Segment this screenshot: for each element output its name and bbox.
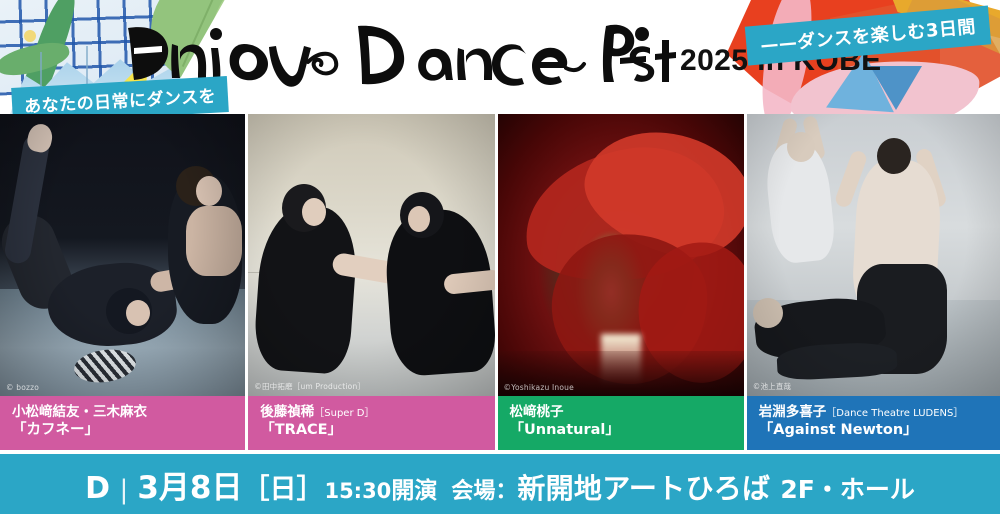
caption-artist-4: 岩淵多喜子［Dance Theatre LUDENS］ [759, 403, 1000, 421]
caption-artist-name-4: 岩淵多喜子 [759, 404, 827, 420]
performance-photo-2[interactable]: ©田中拓磨［um Production］ [248, 114, 494, 396]
schedule-date: 3月8日 [137, 462, 242, 507]
photo-1-scene [0, 114, 245, 396]
caption-bar-3[interactable]: 松﨑桃子 「Unnatural」 [498, 396, 744, 450]
photo-credit-4: ©池上直哉 [753, 381, 792, 392]
caption-artist-1: 小松﨑結友・三木麻衣 [12, 403, 245, 421]
photo-credit-2: ©田中拓磨［um Production］ [254, 381, 365, 392]
poster-header: 2025 in KOBE あなたの日常にダンスを ——ダンスを楽しむ3日間 [0, 0, 1000, 114]
venue-label: 会場： [451, 473, 517, 505]
schedule-line: D | 3月8日 ［日］ 15:30 開演 会場： 新開地アートひろば 2F・ホ… [85, 462, 915, 507]
photo-4-scene [747, 114, 1000, 396]
photo-2-scene [248, 114, 494, 396]
photo-1-vignette [0, 114, 245, 396]
caption-artist-group-4: ［Dance Theatre LUDENS］ [826, 408, 963, 419]
caption-bar-2[interactable]: 後藤禎稀［Super D］ 「TRACE」 [248, 396, 494, 450]
caption-artist-group-2: ［Super D］ [314, 408, 374, 419]
schedule-day-of-week: ［日］ [242, 467, 323, 506]
caption-artist-name-1: 小松﨑結友・三木麻衣 [12, 404, 147, 420]
caption-bar-1[interactable]: 小松﨑結友・三木麻衣 「カフネー」 [0, 396, 245, 450]
caption-artist-name-2: 後藤禎稀 [260, 404, 314, 420]
caption-bar-4[interactable]: 岩淵多喜子［Dance Theatre LUDENS］ 「Against New… [747, 396, 1000, 450]
venue-floor: 2F・ホール [780, 470, 914, 506]
photo-4-vignette [747, 114, 1000, 396]
schedule-start-label: 開演 [391, 471, 437, 505]
caption-artist-3: 松﨑桃子 [510, 403, 744, 421]
photo-3-scene [498, 114, 744, 396]
caption-title-3: 「Unnatural」 [510, 421, 744, 440]
photo-credit-3: ©Yoshikazu Inoue [504, 383, 574, 392]
performance-photo-strip: © bozzo ©田中拓磨［um Production］ [0, 114, 1000, 396]
program-letter: D [85, 471, 110, 506]
yellow-dot-shape [24, 30, 36, 42]
festival-poster: 2025 in KOBE あなたの日常にダンスを ——ダンスを楽しむ3日間 [0, 0, 1000, 514]
caption-title-1: 「カフネー」 [12, 421, 245, 440]
schedule-footer-bar: D | 3月8日 ［日］ 15:30 開演 会場： 新開地アートひろば 2F・ホ… [0, 454, 1000, 514]
caption-artist-name-3: 松﨑桃子 [510, 404, 564, 420]
schedule-separator: | [120, 475, 129, 505]
caption-artist-2: 後藤禎稀［Super D］ [260, 403, 494, 421]
performance-caption-bars: 小松﨑結友・三木麻衣 「カフネー」 後藤禎稀［Super D］ 「TRACE」 … [0, 396, 1000, 450]
performance-photo-4[interactable]: ©池上直哉 [747, 114, 1000, 396]
caption-title-2: 「TRACE」 [260, 421, 494, 440]
performance-photo-1[interactable]: © bozzo [0, 114, 245, 396]
performance-photo-3[interactable]: ©Yoshikazu Inoue [498, 114, 744, 396]
caption-title-4: 「Against Newton」 [759, 421, 1000, 440]
photo-credit-1: © bozzo [6, 383, 39, 392]
venue-name: 新開地アートひろば [517, 467, 770, 507]
schedule-time: 15:30 [324, 479, 391, 503]
photo-2-vignette [248, 114, 494, 396]
